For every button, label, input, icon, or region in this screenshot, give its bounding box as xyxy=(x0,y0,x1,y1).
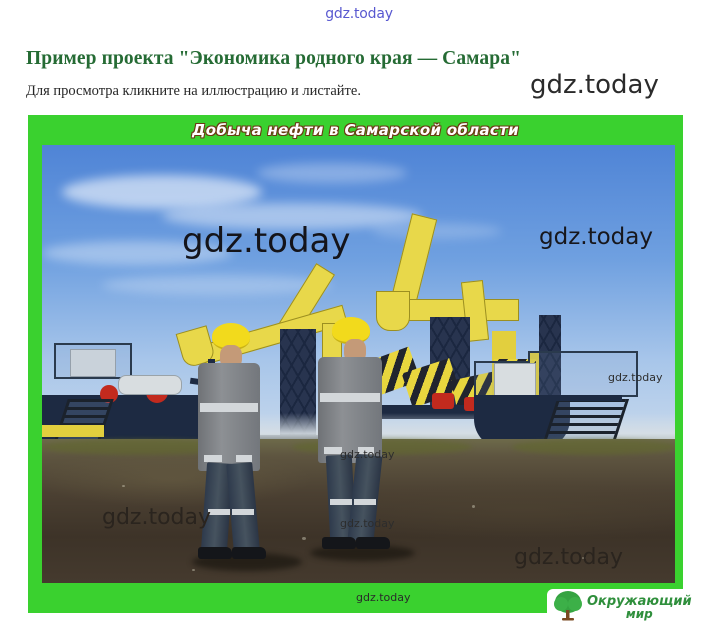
ground-speck xyxy=(302,537,306,540)
page-title: Пример проекта "Экономика родного края —… xyxy=(26,48,521,70)
frame-bottom-watermark: gdz.today xyxy=(356,591,411,604)
ground-speck xyxy=(192,569,195,571)
gallery-caption: Добыча нефти в Самарской области xyxy=(28,115,683,145)
worker-right xyxy=(314,317,394,553)
header-watermark: gdz.today xyxy=(530,70,659,100)
site-logo[interactable]: Окружающий мир xyxy=(547,589,708,627)
logo-line-2: мир xyxy=(587,608,692,621)
worker-left xyxy=(192,323,272,561)
gallery-photo[interactable]: gdz.today gdz.today gdz.today gdz.today … xyxy=(42,145,675,583)
page-subtitle: Для просмотра кликните на иллюстрацию и … xyxy=(26,83,361,100)
tree-icon xyxy=(553,590,583,627)
grass-strip xyxy=(512,439,675,455)
cloud xyxy=(257,163,407,183)
cloud xyxy=(42,241,232,265)
ground-speck xyxy=(472,505,475,508)
ground-speck xyxy=(122,485,125,487)
logo-text: Окружающий мир xyxy=(587,595,692,621)
top-watermark: gdz.today xyxy=(0,6,718,22)
gallery-frame[interactable]: Добыча нефти в Самарской области xyxy=(28,115,683,613)
ground-speck xyxy=(582,557,586,559)
